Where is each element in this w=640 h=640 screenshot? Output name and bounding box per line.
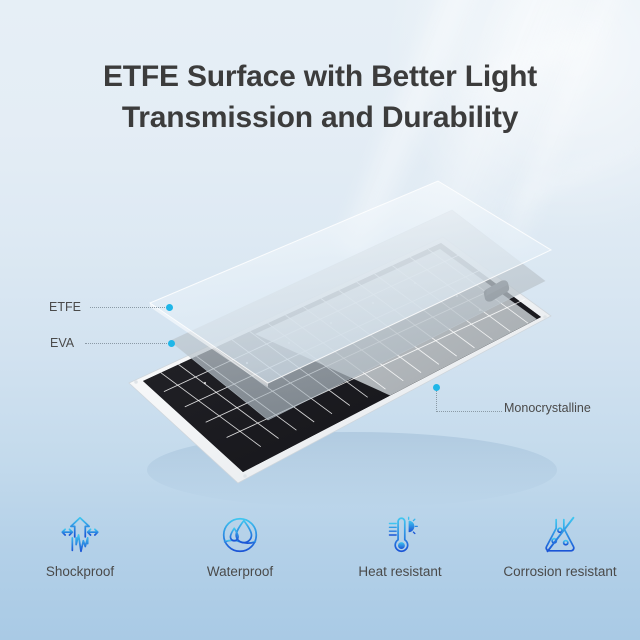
feature-item-shockproof: Shockproof bbox=[0, 512, 160, 579]
callout-line-monocrystalline bbox=[436, 411, 502, 412]
page-title: ETFE Surface with Better Light Transmiss… bbox=[0, 56, 640, 138]
callout-label-monocrystalline: Monocrystalline bbox=[504, 401, 591, 415]
feature-item-heat-resistant: Heat resistant bbox=[320, 512, 480, 579]
corrosion-resistant-icon bbox=[537, 512, 583, 558]
callout-dot-eva bbox=[168, 340, 175, 347]
feature-label-corrosion-resistant: Corrosion resistant bbox=[503, 564, 616, 579]
feature-label-shockproof: Shockproof bbox=[46, 564, 114, 579]
product-feature-graphic: ETFE Surface with Better Light Transmiss… bbox=[0, 0, 640, 640]
panel-base bbox=[129, 237, 551, 483]
feature-list: Shockproof Waterproof bbox=[0, 512, 640, 602]
callout-dot-monocrystalline bbox=[433, 384, 440, 391]
callout-dot-etfe bbox=[166, 304, 173, 311]
callout-line-etfe bbox=[90, 307, 169, 308]
junction-box bbox=[484, 280, 509, 301]
shockproof-icon bbox=[57, 512, 103, 558]
callout-label-eva: EVA bbox=[50, 336, 74, 350]
callout-label-etfe: ETFE bbox=[49, 300, 81, 314]
feature-label-waterproof: Waterproof bbox=[207, 564, 273, 579]
light-streak bbox=[363, 0, 609, 345]
feature-item-corrosion-resistant: Corrosion resistant bbox=[480, 512, 640, 579]
eva-layer bbox=[170, 210, 545, 420]
feature-item-waterproof: Waterproof bbox=[160, 512, 320, 579]
callout-line-eva bbox=[85, 343, 171, 344]
waterproof-icon bbox=[217, 512, 263, 558]
heat-resistant-icon bbox=[377, 512, 423, 558]
etfe-layer bbox=[150, 181, 551, 387]
feature-label-heat-resistant: Heat resistant bbox=[358, 564, 441, 579]
